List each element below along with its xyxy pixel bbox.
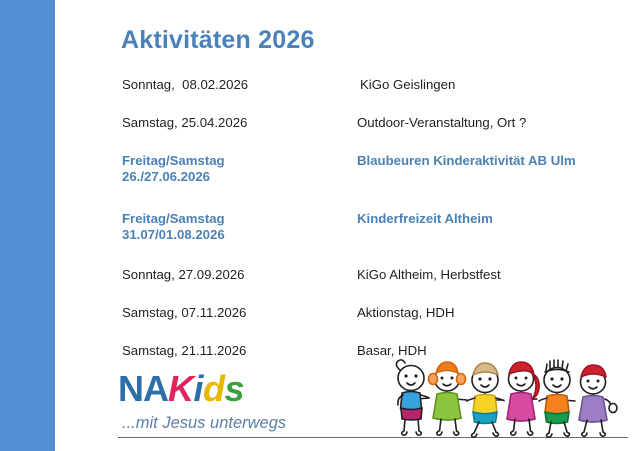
child-1 bbox=[396, 360, 429, 435]
schedule-row: Samstag, 07.11.2026Aktionstag, HDH bbox=[0, 305, 640, 321]
logo-letter-i: i bbox=[194, 368, 204, 409]
schedule-row-event: Outdoor-Veranstaltung, Ort ? bbox=[357, 115, 526, 131]
slide-canvas: Aktivitäten 2026 Sonntag, 08.02.2026KiGo… bbox=[0, 0, 640, 451]
schedule-row-date: Samstag, 21.11.2026 bbox=[122, 343, 246, 359]
schedule-row-date: Samstag, 25.04.2026 bbox=[122, 115, 247, 131]
child-5 bbox=[539, 360, 570, 437]
schedule-row: Samstag, 21.11.2026Basar, HDH bbox=[0, 343, 640, 359]
schedule-row: Sonntag, 08.02.2026KiGo Geislingen bbox=[0, 77, 640, 93]
schedule-row-event: KiGo Altheim, Herbstfest bbox=[357, 267, 501, 283]
logo-wordmark: NAKids bbox=[118, 368, 244, 410]
schedule-row-date: Freitag/Samstag 26./27.06.2026 bbox=[122, 153, 225, 184]
logo-letters-na: NA bbox=[118, 368, 168, 409]
child-2 bbox=[429, 362, 466, 435]
page-title: Aktivitäten 2026 bbox=[121, 26, 315, 55]
logo-letter-s: s bbox=[225, 368, 245, 409]
schedule-row-event: Kinderfreizeit Altheim bbox=[357, 211, 493, 227]
schedule-row-event: Aktionstag, HDH bbox=[357, 305, 454, 321]
schedule-row-event: KiGo Geislingen bbox=[360, 77, 455, 93]
children-illustration bbox=[385, 358, 635, 438]
logo-letter-d: d bbox=[203, 368, 225, 409]
schedule-row-event: Basar, HDH bbox=[357, 343, 427, 359]
schedule-row: Freitag/Samstag 26./27.06.2026Blaubeuren… bbox=[0, 153, 640, 185]
schedule-row: Samstag, 25.04.2026Outdoor-Veranstaltung… bbox=[0, 115, 640, 131]
schedule-row-date: Sonntag, 27.09.2026 bbox=[122, 267, 244, 283]
schedule-row: Sonntag, 27.09.2026KiGo Altheim, Herbstf… bbox=[0, 267, 640, 283]
schedule-row-date: Sonntag, 08.02.2026 bbox=[122, 77, 248, 93]
logo-letter-k: K bbox=[168, 368, 194, 409]
schedule-row-event: Blaubeuren Kinderaktivität AB Ulm bbox=[357, 153, 576, 169]
child-6 bbox=[579, 365, 617, 436]
nakids-logo: NAKids ...mit Jesus unterwegs bbox=[118, 368, 318, 438]
logo-tagline: ...mit Jesus unterwegs bbox=[122, 414, 286, 433]
schedule-row-date: Freitag/Samstag 31.07/01.08.2026 bbox=[122, 211, 225, 242]
schedule-row: Freitag/Samstag 31.07/01.08.2026Kinderfr… bbox=[0, 211, 640, 243]
children-illustration-svg bbox=[385, 358, 635, 438]
schedule-row-date: Samstag, 07.11.2026 bbox=[122, 305, 246, 321]
